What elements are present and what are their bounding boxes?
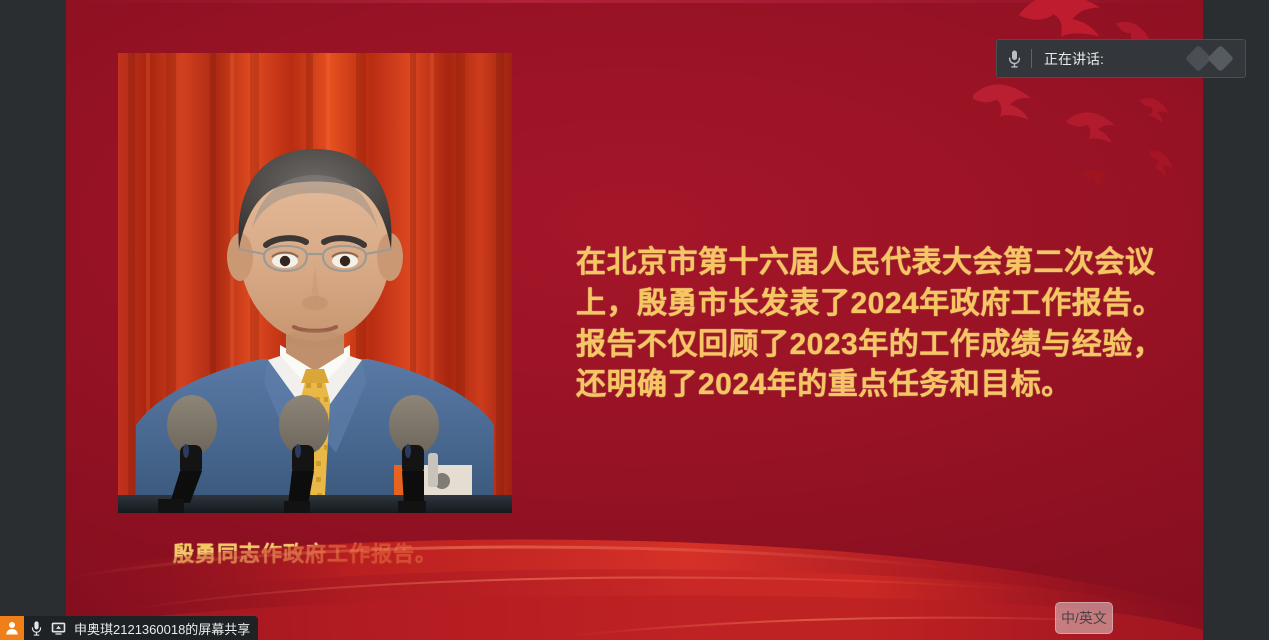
speaking-indicator-banner[interactable]: 正在讲话: xyxy=(996,39,1246,78)
slide-body-line: 还明确了2024年的重点任务和目标。 xyxy=(576,365,1176,406)
slide-body-line: 上，殷勇市长发表了2024年政府工作报告。 xyxy=(576,284,1176,325)
share-session-title: 申奥琪2121360018的屏幕共享 xyxy=(74,619,250,638)
photo-caption: 殷勇同志作政府工作报告。 xyxy=(173,538,437,568)
screen-share-taskbar[interactable]: 申奥琪2121360018的屏幕共享 xyxy=(0,616,258,640)
microphone-icon[interactable] xyxy=(27,616,46,640)
monitor-share-icon[interactable] xyxy=(49,616,68,640)
slide-body-line: 在北京市第十六届人民代表大会第二次会议 xyxy=(576,243,1176,284)
slide-top-accent-band xyxy=(66,0,1203,3)
audio-level-diamonds-icon xyxy=(1185,44,1239,74)
person-icon[interactable] xyxy=(0,616,24,640)
speaking-label: 正在讲话: xyxy=(1044,49,1185,69)
slide-body-line: 报告不仅回顾了2023年的工作成绩与经验， xyxy=(576,325,1176,366)
flying-doves-icon xyxy=(973,0,1203,194)
slide-body-text: 在北京市第十六届人民代表大会第二次会议 上，殷勇市长发表了2024年政府工作报告… xyxy=(576,243,1176,406)
divider xyxy=(1031,49,1032,68)
official-portrait-photo xyxy=(118,53,512,513)
language-toggle-label: 中/英文 xyxy=(1061,608,1107,628)
presentation-slide: 殷勇同志作政府工作报告。 在北京市第十六届人民代表大会第二次会议 上，殷勇市长发… xyxy=(66,0,1203,640)
microphone-icon xyxy=(997,50,1031,68)
language-toggle-button[interactable]: 中/英文 xyxy=(1055,602,1113,634)
screen-share-viewer: 殷勇同志作政府工作报告。 在北京市第十六届人民代表大会第二次会议 上，殷勇市长发… xyxy=(0,0,1269,640)
